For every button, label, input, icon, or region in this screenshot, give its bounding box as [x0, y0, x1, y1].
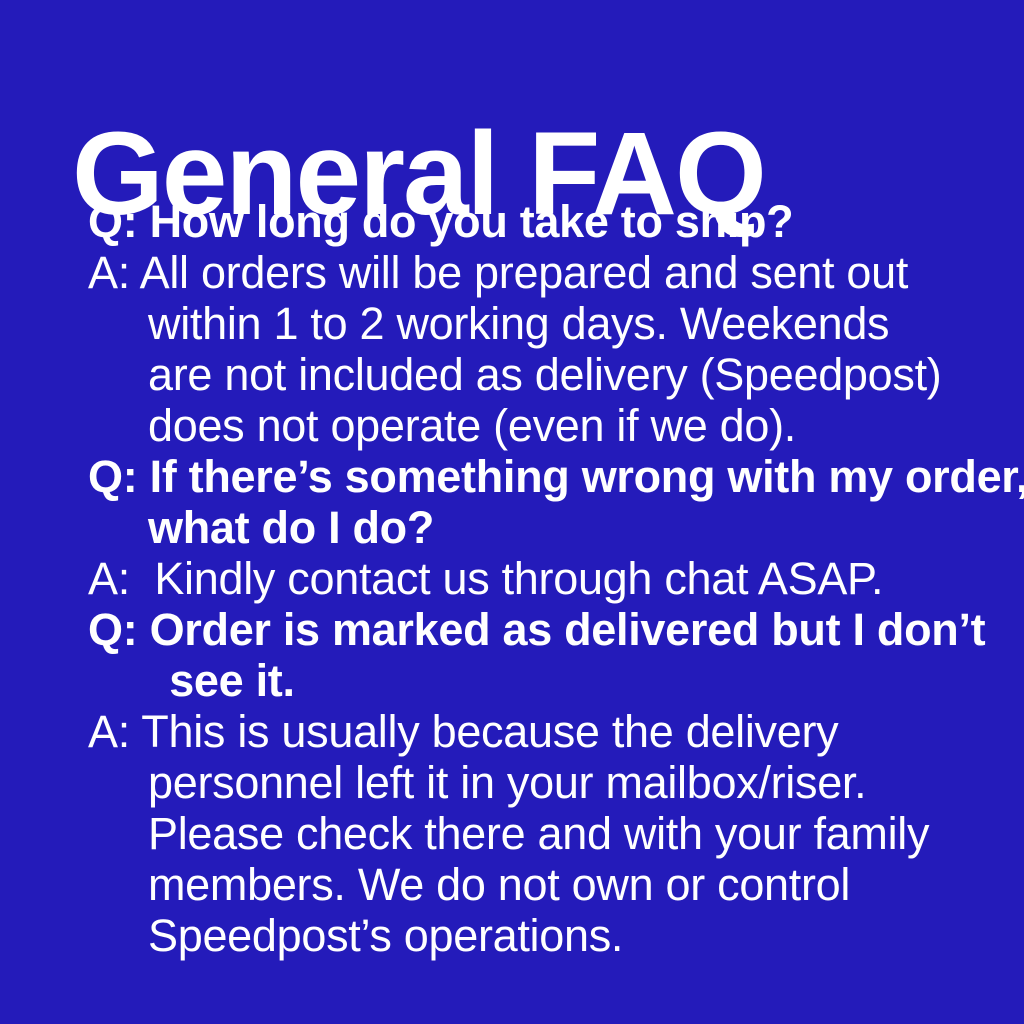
faq-line: A: Kindly contact us through chat ASAP.	[88, 553, 1016, 604]
faq-line: Please check there and with your family	[88, 808, 1016, 859]
faq-line: does not operate (even if we do).	[88, 400, 1016, 451]
faq-line: A: All orders will be prepared and sent …	[88, 247, 1016, 298]
faq-line: within 1 to 2 working days. Weekends	[88, 298, 1016, 349]
faq-line: Q: How long do you take to ship?	[88, 196, 1016, 247]
faq-list: Q: How long do you take to ship?A: All o…	[88, 196, 1016, 961]
faq-line: see it.	[88, 655, 1016, 706]
faq-line: Q: If there’s something wrong with my or…	[88, 451, 1016, 502]
faq-line: are not included as delivery (Speedpost)	[88, 349, 1016, 400]
faq-line: members. We do not own or control	[88, 859, 1016, 910]
faq-line: Speedpost’s operations.	[88, 910, 1016, 961]
faq-line: A: This is usually because the delivery	[88, 706, 1016, 757]
faq-card: General FAQ Q: How long do you take to s…	[0, 0, 1024, 1024]
faq-line: personnel left it in your mailbox/riser.	[88, 757, 1016, 808]
faq-line: Q: Order is marked as delivered but I do…	[88, 604, 1016, 655]
faq-line: what do I do?	[88, 502, 1016, 553]
